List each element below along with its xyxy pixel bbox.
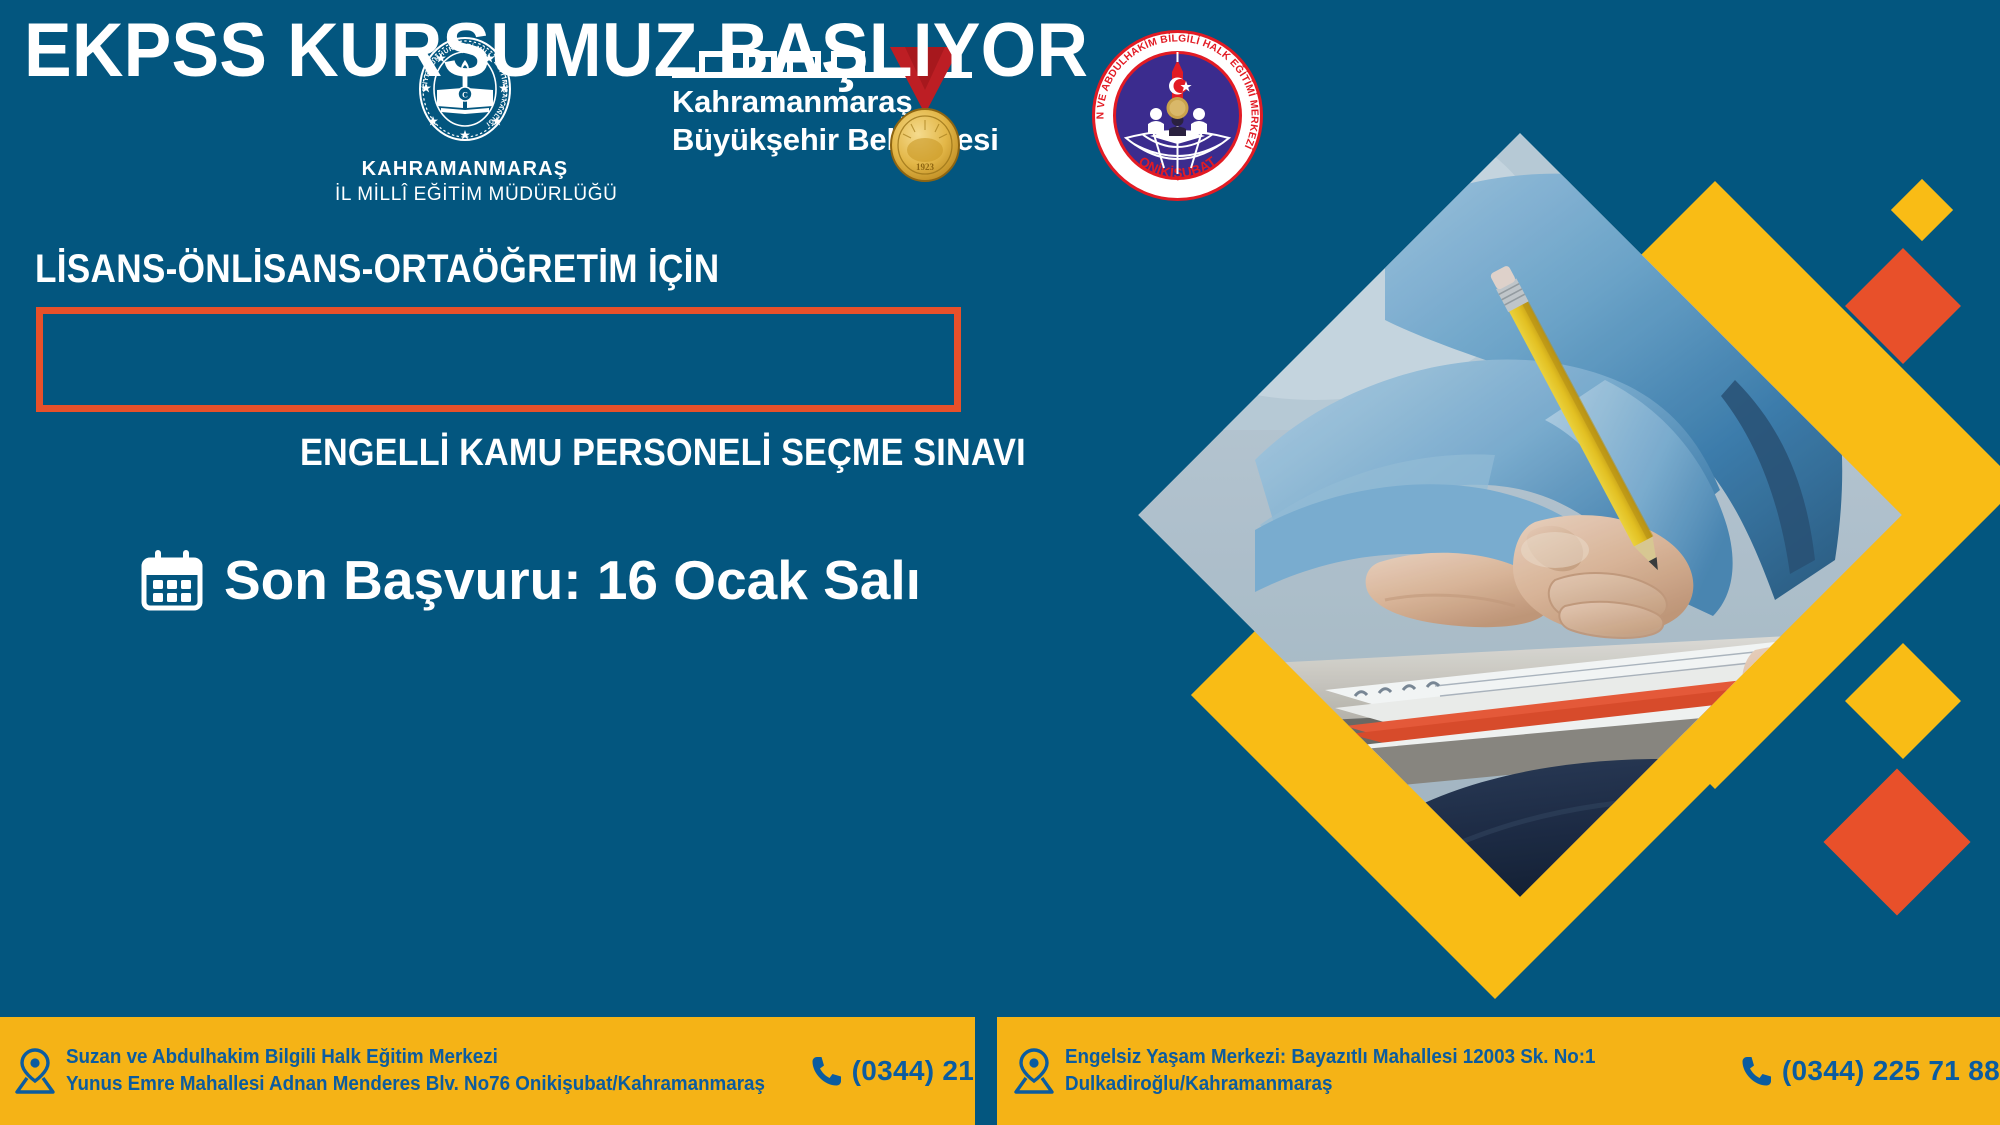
- meb-logo-line2: İL MİLLÎ EĞİTİM MÜDÜRLÜĞÜ: [335, 184, 595, 206]
- footer-contact-bar: Suzan ve Abdulhakim Bilgili Halk Eğitim …: [0, 1017, 2000, 1125]
- yellow-diamond-small-2: [1845, 643, 1961, 759]
- graphic-collage: [1190, 180, 2000, 1020]
- svg-text:1923: 1923: [916, 162, 935, 172]
- yellow-diamond-small-1: [1891, 179, 1953, 241]
- footer-right-address: Engelsiz Yaşam Merkezi: Bayazıtlı Mahall…: [1013, 1044, 1629, 1098]
- meb-logo-line1: KAHRAMANMARAŞ: [335, 158, 595, 181]
- footer-divider: [975, 1017, 997, 1125]
- poster-root: TÜRKİYE CUMHURİYETİ MİLLİ EĞİTİM BAKANLI…: [0, 0, 2000, 1125]
- deadline-row: Son Başvuru: 16 Ocak Salı: [140, 548, 921, 612]
- phone-icon: [1740, 1054, 1774, 1088]
- orange-diamond-small-2: [1823, 768, 1970, 915]
- footer-right-phone-wrap[interactable]: (0344) 225 71 88: [1740, 1054, 2000, 1088]
- footer-right-section: Engelsiz Yaşam Merkezi: Bayazıtlı Mahall…: [997, 1017, 2000, 1125]
- subtitle-text: ENGELLİ KAMU PERSONELİ SEÇME SINAVI: [300, 432, 1026, 475]
- location-pin-icon: [1013, 1048, 1055, 1094]
- calendar-icon: [140, 548, 204, 612]
- deadline-text: Son Başvuru: 16 Ocak Salı: [224, 548, 921, 612]
- hem-seal-icon: SUZAN VE ABDULHAKİM BİLGİLİ HALK EĞİTİMİ…: [1090, 28, 1265, 203]
- footer-left-address: Suzan ve Abdulhakim Bilgili Halk Eğitim …: [14, 1044, 810, 1098]
- hem-logo: SUZAN VE ABDULHAKİM BİLGİLİ HALK EĞİTİMİ…: [1090, 28, 1265, 203]
- footer-right-phone: (0344) 225 71 88: [1782, 1055, 2000, 1087]
- footer-right-address-line1: Engelsiz Yaşam Merkezi: Bayazıtlı Mahall…: [1065, 1044, 1595, 1071]
- phone-icon: [810, 1054, 844, 1088]
- footer-left-address-line2: Yunus Emre Mahallesi Adnan Menderes Blv.…: [66, 1071, 765, 1098]
- title-box: [36, 307, 961, 412]
- student-writing-photo: [1138, 133, 1902, 897]
- photo-diamond: [1138, 133, 1902, 897]
- footer-left-section: Suzan ve Abdulhakim Bilgili Halk Eğitim …: [0, 1017, 975, 1125]
- kicker-text: LİSANS-ÖNLİSANS-ORTAÖĞRETİM İÇİN: [35, 247, 719, 292]
- location-pin-icon: [14, 1048, 56, 1094]
- footer-right-address-line2: Dulkadiroğlu/Kahramanmaraş: [1065, 1071, 1595, 1098]
- footer-left-address-line1: Suzan ve Abdulhakim Bilgili Halk Eğitim …: [66, 1044, 765, 1071]
- page-title: EKPSS KURSUMUZ BAŞLIYOR: [24, 12, 1088, 90]
